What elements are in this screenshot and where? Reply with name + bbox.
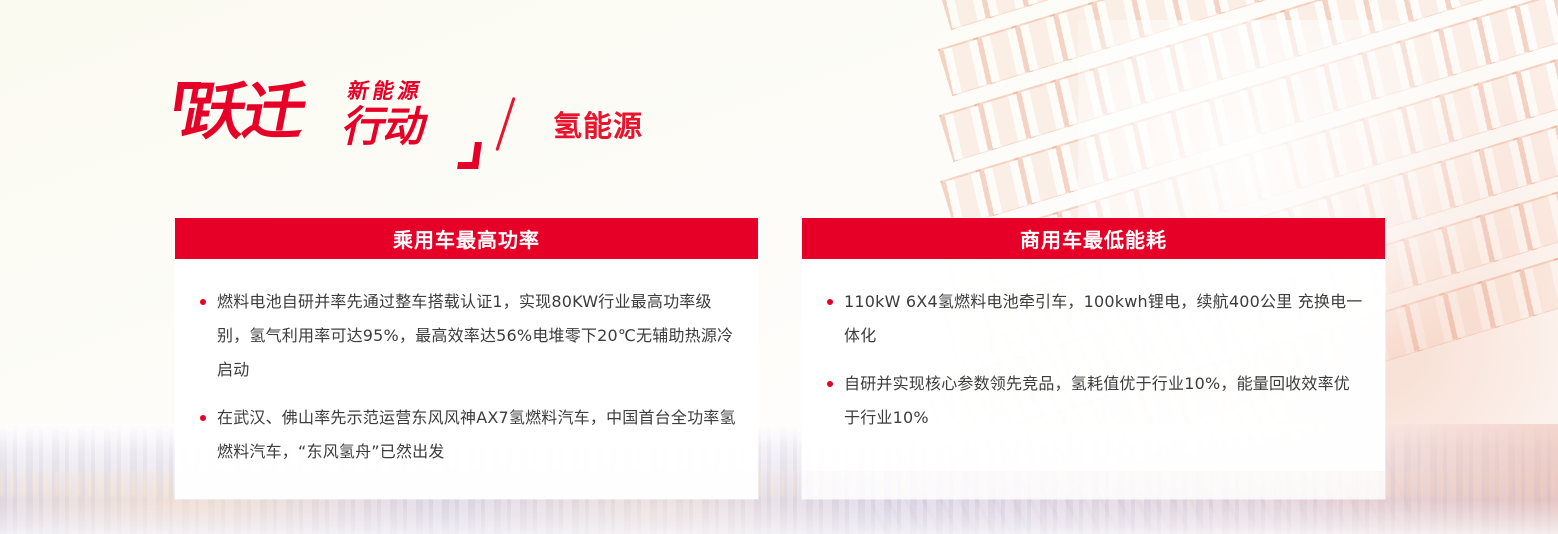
card-group: 乘用车最高功率 燃料电池自研并率先通过整车搭载认证1，实现80KW行业最高功率级…: [175, 218, 1385, 499]
card-title: 商用车最低能耗: [802, 218, 1385, 259]
bracket-close-icon: [457, 142, 482, 169]
card-title: 乘用车最高功率: [175, 218, 758, 259]
logo-tagline: 氢能源: [553, 103, 643, 145]
card-body: 110kW 6X4氢燃料电池牵引车，100kwh锂电，续航400公里 充换电一体…: [802, 259, 1385, 471]
list-item: 燃料电池自研并率先通过整车搭载认证1，实现80KW行业最高功率级别，氢气利用率可…: [197, 285, 736, 387]
logo-main-text: 跃迁: [177, 78, 310, 146]
logo-sub-top-text: 新能源: [346, 80, 425, 102]
brand-logo: 跃迁 新能源 行动 氢能源: [176, 78, 643, 170]
bullet-list: 110kW 6X4氢燃料电池牵引车，100kwh锂电，续航400公里 充换电一体…: [824, 285, 1363, 435]
list-item: 自研并实现核心参数领先竞品，氢耗值优于行业10%，能量回收效率优于行业10%: [824, 367, 1363, 435]
slash-divider-icon: [495, 97, 515, 151]
promo-banner: 跃迁 新能源 行动 氢能源 乘用车最高功率 燃料电池自研并率先通过整车搭载认证1…: [0, 0, 1558, 534]
list-item: 110kW 6X4氢燃料电池牵引车，100kwh锂电，续航400公里 充换电一体…: [824, 285, 1363, 353]
card-passenger-vehicle: 乘用车最高功率 燃料电池自研并率先通过整车搭载认证1，实现80KW行业最高功率级…: [175, 218, 758, 499]
logo-mark: 跃迁 新能源 行动: [176, 78, 476, 170]
bottom-fade-overlay: [0, 500, 1558, 534]
bullet-list: 燃料电池自研并率先通过整车搭载认证1，实现80KW行业最高功率级别，氢气利用率可…: [197, 285, 736, 469]
card-commercial-vehicle: 商用车最低能耗 110kW 6X4氢燃料电池牵引车，100kwh锂电，续航400…: [802, 218, 1385, 499]
logo-sub-bottom-text: 行动: [339, 104, 432, 150]
card-body: 燃料电池自研并率先通过整车搭载认证1，实现80KW行业最高功率级别，氢气利用率可…: [175, 259, 758, 499]
list-item: 在武汉、佛山率先示范运营东风风神AX7氢燃料汽车，中国首台全功率氢燃料汽车，“东…: [197, 401, 736, 469]
